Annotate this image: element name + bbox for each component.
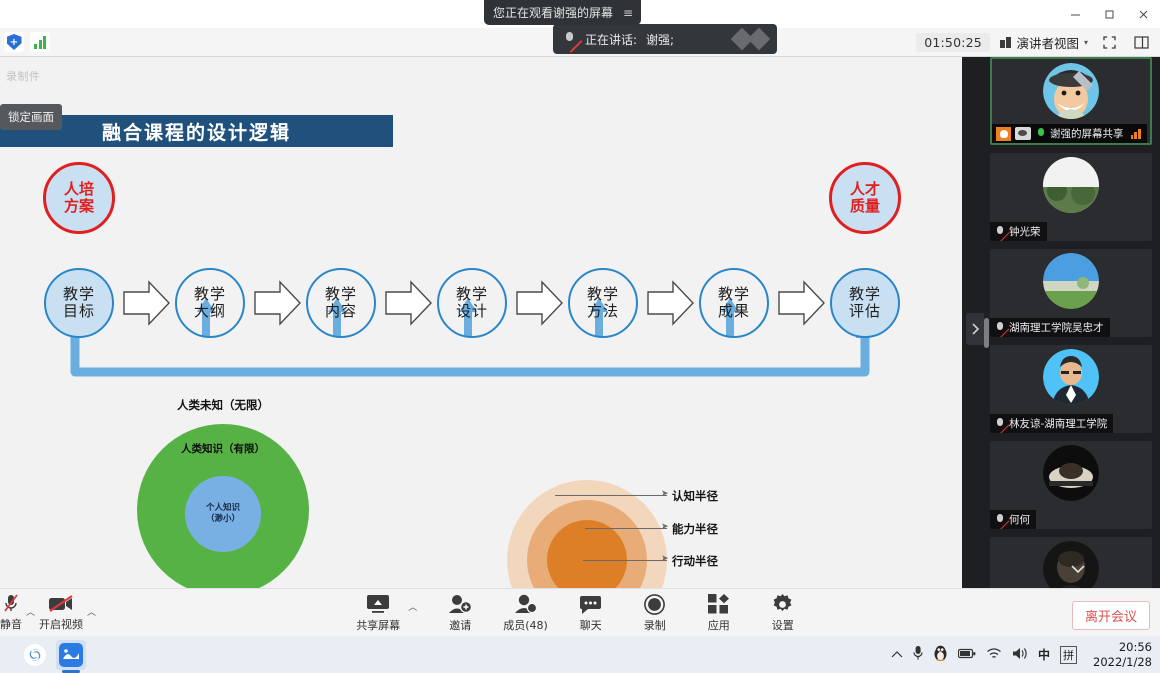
share-screen-icon (366, 594, 390, 615)
shield-icon[interactable]: + (4, 32, 24, 52)
flow-step-line2: 设计 (456, 303, 488, 320)
watching-screen-text: 您正在观看谢强的屏幕 (493, 4, 613, 21)
fullscreen-icon[interactable] (1098, 32, 1120, 52)
chat-button[interactable]: 聊天 (570, 594, 612, 633)
participant-name-1: 钟光荣 (1009, 224, 1041, 239)
flow-step-line1: 教学 (587, 286, 619, 303)
participant-tile-1[interactable]: 钟光荣 (990, 153, 1152, 241)
apps-label: 应用 (708, 617, 730, 633)
clock-date: 2022/1/28 (1093, 655, 1152, 669)
avatar (1043, 253, 1099, 309)
human-knowledge-circle: 人类知识（有限） 个人知识 （渺小） (137, 424, 309, 588)
chat-icon (579, 594, 602, 615)
flow-step-line1: 教学 (718, 286, 750, 303)
participant-nameplate-2: 湖南理工学院吴忠才 (990, 318, 1110, 337)
leader-line-action (583, 560, 667, 561)
mute-label: 静音 (0, 616, 22, 632)
presenter-icon (996, 127, 1011, 141)
participant-name-2: 湖南理工学院吴忠才 (1009, 320, 1104, 335)
flow-step-line1: 教学 (325, 286, 357, 303)
tray-expand-icon[interactable] (891, 648, 903, 662)
meeting-window: + 01:50:25 演讲者视图 ▾ (0, 0, 1160, 673)
view-mode-label: 演讲者视图 (1016, 33, 1079, 52)
speaking-indicator-bar: 正在讲话: 谢强; (553, 24, 777, 54)
signal-bars-icon[interactable] (30, 32, 50, 52)
taskbar-apps (0, 640, 86, 670)
participants-panel[interactable]: 谢强的屏幕共享 钟光荣 (962, 57, 1160, 588)
participant-tile-3[interactable]: 林友谅-湖南理工学院 (990, 345, 1152, 433)
apps-button[interactable]: 应用 (698, 594, 740, 633)
mic-muted-icon (994, 514, 1005, 526)
flow-step-line2: 内容 (325, 303, 357, 320)
leave-meeting-button[interactable]: 离开会议 (1072, 601, 1150, 630)
avatar (1043, 63, 1099, 119)
view-mode-selector[interactable]: 演讲者视图 ▾ (1000, 33, 1088, 52)
close-button[interactable] (1126, 0, 1160, 28)
action-radius-label: 行动半径 (672, 553, 718, 569)
mic-muted-icon (563, 32, 576, 47)
flow-step-4: 教学 设计 (437, 268, 507, 338)
personal-knowledge-line1: 个人知识 (206, 503, 240, 514)
maximize-button[interactable] (1092, 0, 1126, 28)
speaking-name: 谢强; (646, 31, 674, 48)
participant-name-3: 林友谅-湖南理工学院 (1009, 416, 1107, 431)
mic-muted-icon (994, 226, 1005, 238)
invite-label: 邀请 (449, 617, 471, 633)
share-screen-button[interactable]: 共享屏幕 (356, 594, 400, 633)
mic-muted-icon (994, 418, 1005, 430)
personal-knowledge-line2: （渺小） (206, 514, 240, 525)
video-options-chevron[interactable]: ︿ (87, 605, 96, 632)
participant-nameplate-1: 钟光荣 (990, 222, 1047, 241)
participant-tile-2[interactable]: 湖南理工学院吴忠才 (990, 249, 1152, 337)
invite-button[interactable]: 邀请 (439, 594, 481, 633)
hamburger-icon[interactable]: ≡ (623, 6, 632, 20)
avatar (1043, 445, 1099, 501)
invite-icon (449, 594, 472, 615)
topbar-left-icons: + (0, 32, 50, 52)
chevron-down-icon[interactable] (1065, 560, 1091, 578)
participant-nameplate-4: 何何 (990, 510, 1036, 529)
participant-nameplate-3: 林友谅-湖南理工学院 (990, 414, 1113, 433)
participant-name-4: 何何 (1009, 512, 1030, 527)
participant-name-0: 谢强的屏幕共享 (1050, 126, 1124, 141)
video-muted-icon (48, 593, 74, 614)
volume-icon[interactable] (1012, 647, 1028, 663)
share-options-chevron[interactable]: ︿ (408, 600, 417, 627)
record-button[interactable]: 录制 (634, 594, 676, 633)
meeting-app-icon[interactable] (56, 640, 86, 670)
flow-step-1: 教学 目标 (44, 268, 114, 338)
clock-time: 20:56 (1093, 640, 1152, 654)
split-layout-icon[interactable] (1130, 32, 1152, 52)
participants-label: 成员(48) (503, 617, 548, 633)
system-tray: 中 拼 20:56 2022/1/28 (891, 640, 1160, 669)
mic-muted-icon (4, 593, 18, 614)
ability-radius-label: 能力半径 (672, 521, 718, 537)
signal-strength-icon (1131, 129, 1141, 139)
unknown-knowledge-label: 人类未知（无限） (132, 394, 314, 413)
flow-step-line1: 教学 (194, 286, 226, 303)
video-button[interactable]: 开启视频 (39, 593, 83, 632)
app-logo-watermark (734, 31, 767, 47)
record-icon (644, 594, 665, 615)
flow-step-6: 教学 成果 (699, 268, 769, 338)
ime-mode-label[interactable]: 中 (1038, 646, 1050, 663)
lock-screen-tooltip: 锁定画面 (0, 104, 62, 130)
settings-gear-icon (772, 594, 793, 615)
sogou-icon[interactable] (20, 640, 50, 670)
flow-step-5: 教学 方法 (568, 268, 638, 338)
flow-step-7: 教学 评估 (830, 268, 900, 338)
chevron-down-icon: ▾ (1084, 38, 1088, 47)
watching-screen-notice: 您正在观看谢强的屏幕 ≡ (484, 0, 641, 25)
share-screen-label: 共享屏幕 (356, 617, 400, 633)
video-label: 开启视频 (39, 616, 83, 632)
taskbar-clock[interactable]: 20:56 2022/1/28 (1087, 640, 1152, 669)
penguin-icon[interactable] (933, 645, 948, 664)
flow-step-line1: 教学 (849, 286, 881, 303)
leader-arrow-action: ➤ (661, 555, 669, 564)
controls-center-group: 共享屏幕 ︿ 邀请 成员(48) 聊天 (0, 589, 1160, 637)
participant-tile-4[interactable]: 何何 (990, 441, 1152, 529)
participant-nameplate-0: 谢强的屏幕共享 (992, 124, 1147, 143)
radius-diagram: ➤ 认知半径 ➤ 能力半径 ➤ 行动半径 未知的世界 (455, 462, 755, 588)
apps-icon (708, 594, 729, 615)
mic-icon[interactable] (913, 645, 923, 664)
settings-label: 设置 (772, 617, 794, 633)
record-label: 录制 (644, 617, 666, 633)
controls-left-group: 静音 ︿ 开启视频 ︿ (0, 593, 96, 632)
flow-step-line2: 方法 (587, 303, 619, 320)
flow-step-line1: 教学 (456, 286, 488, 303)
mic-active-icon (1035, 128, 1046, 140)
battery-icon[interactable] (958, 648, 976, 662)
windows-taskbar: 中 拼 20:56 2022/1/28 (0, 636, 1160, 673)
avatar (1043, 157, 1099, 213)
flow-step-2: 教学 大纲 (175, 268, 245, 338)
mic-muted-icon (994, 322, 1005, 334)
panel-scrollbar-thumb[interactable] (984, 318, 989, 348)
flow-step-line2: 大纲 (194, 303, 226, 320)
flow-step-line2: 评估 (849, 303, 881, 320)
flow-step-line2: 目标 (63, 303, 95, 320)
chat-label: 聊天 (580, 617, 602, 633)
ime-grid-icon[interactable]: 拼 (1060, 646, 1077, 664)
mute-button[interactable]: 静音 (0, 593, 22, 632)
leader-line-ability (585, 528, 667, 529)
meeting-controls-bar: 静音 ︿ 开启视频 ︿ 共享屏幕 ︿ (0, 588, 1160, 636)
flow-step-3: 教学 内容 (306, 268, 376, 338)
personal-knowledge-circle: 个人知识 （渺小） (185, 476, 261, 552)
avatar (1043, 349, 1099, 405)
leader-arrow-ability: ➤ (661, 523, 669, 532)
record-hint-text: 录制件 (6, 68, 41, 84)
participants-button[interactable]: 成员(48) (503, 594, 548, 633)
collapse-panel-button[interactable] (966, 313, 984, 345)
participant-tile-0[interactable]: 谢强的屏幕共享 (990, 57, 1152, 145)
screen-share-icon (1015, 127, 1031, 140)
topbar-right-controls: 01:50:25 演讲者视图 ▾ (916, 32, 1160, 52)
knowledge-venn-diagram: 人类未知（无限） 人类知识（有限） 个人知识 （渺小） (132, 394, 314, 588)
cognition-radius-label: 认知半径 (672, 488, 718, 504)
minimize-button[interactable] (1058, 0, 1092, 28)
flow-step-line2: 成果 (718, 303, 750, 320)
speaker-view-icon (1000, 37, 1012, 48)
settings-button[interactable]: 设置 (762, 594, 804, 633)
participants-icon (514, 594, 537, 615)
shared-screen-stage[interactable]: 融合课程的设计逻辑 人培 方案 人才 质量 (0, 57, 962, 588)
leader-arrow-cognition: ➤ (661, 490, 669, 499)
mute-options-chevron[interactable]: ︿ (26, 605, 35, 632)
human-knowledge-label: 人类知识（有限） (137, 441, 309, 456)
meeting-timer: 01:50:25 (916, 33, 990, 52)
leader-line-cognition (555, 495, 667, 496)
speaking-label: 正在讲话: (585, 31, 637, 48)
flow-step-line1: 教学 (63, 286, 95, 303)
wifi-icon[interactable] (986, 647, 1002, 663)
